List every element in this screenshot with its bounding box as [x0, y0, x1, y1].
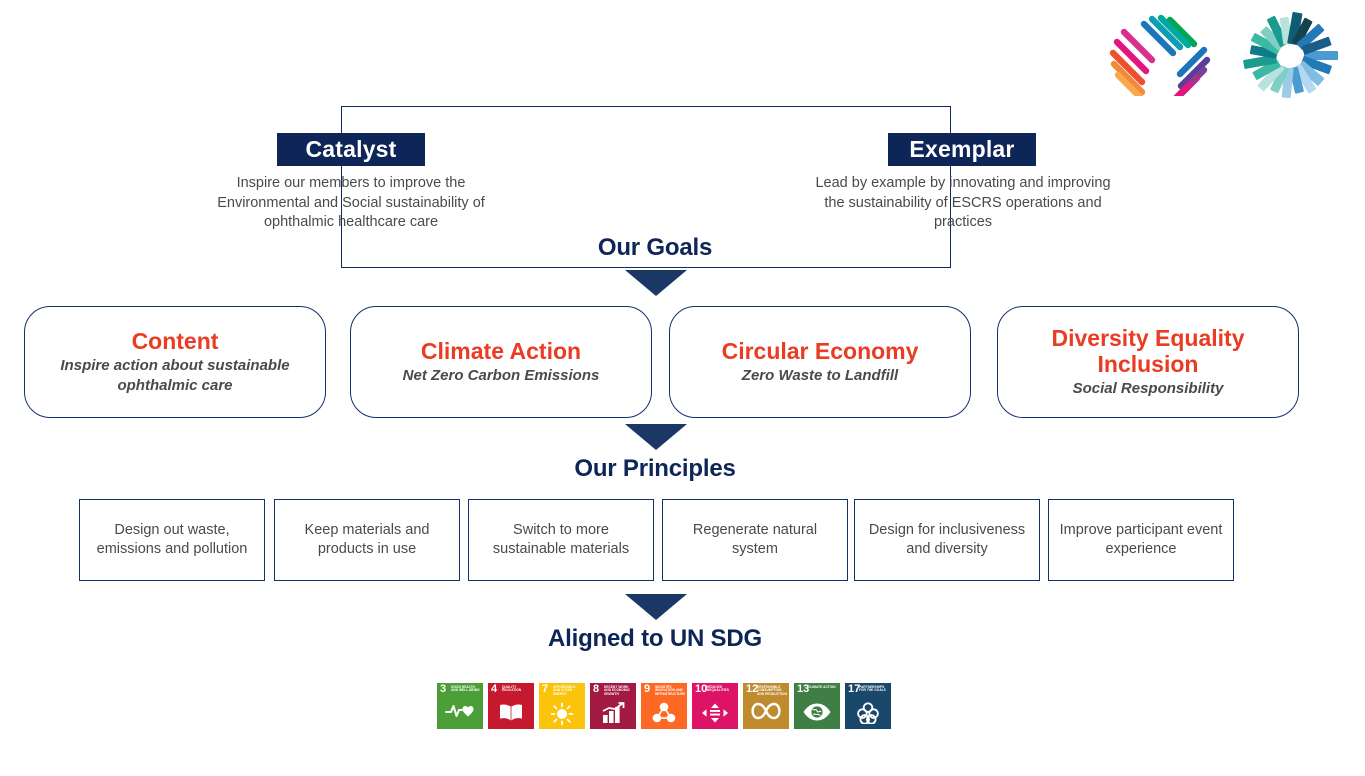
- growth-chart-icon: [590, 702, 636, 726]
- sdg-number: 3: [440, 684, 446, 695]
- goal-subtitle: Inspire action about sustainable ophthal…: [35, 356, 315, 396]
- escrs-circular-logo: [1108, 12, 1220, 96]
- heartbeat-icon: [437, 702, 483, 726]
- principle-box[interactable]: Design out waste, emissions and pollutio…: [79, 499, 265, 581]
- sdg-number: 4: [491, 684, 497, 695]
- principle-box[interactable]: Keep materials and products in use: [274, 499, 460, 581]
- goals-row: Content Inspire action about sustainable…: [0, 306, 1310, 424]
- equals-arrows-icon: [692, 702, 738, 726]
- sdg-tile-13[interactable]: 13CLIMATE ACTION: [794, 683, 840, 729]
- sdg-tile-7[interactable]: 7AFFORDABLE AND CLEAN ENERGY: [539, 683, 585, 729]
- sdg-label: CLIMATE ACTION: [808, 686, 838, 690]
- sun-icon: [539, 702, 585, 726]
- sdg-label: RESPONSIBLE CONSUMPTION AND PRODUCTION: [757, 686, 787, 697]
- sdg-tile-3[interactable]: 3GOOD HEALTH AND WELL-BEING: [437, 683, 483, 729]
- goal-title: Diversity Equality Inclusion: [1008, 325, 1288, 377]
- principle-box[interactable]: Switch to more sustainable materials: [468, 499, 654, 581]
- sdg-label: REDUCED INEQUALITIES: [706, 686, 736, 693]
- goal-subtitle: Zero Waste to Landfill: [742, 366, 898, 386]
- principles-row: Design out waste, emissions and pollutio…: [0, 499, 1310, 583]
- principle-box[interactable]: Regenerate natural system: [662, 499, 848, 581]
- section-title-our-goals: Our Goals: [0, 234, 1310, 262]
- principle-box[interactable]: Design for inclusiveness and diversity: [854, 499, 1040, 581]
- sdg-tile-9[interactable]: 9INDUSTRY, INNOVATION AND INFRASTRUCTURE: [641, 683, 687, 729]
- infinity-icon: [743, 702, 789, 726]
- sdg-label: AFFORDABLE AND CLEAN ENERGY: [553, 686, 583, 697]
- goal-title: Climate Action: [421, 338, 581, 364]
- sdg-number: 9: [644, 684, 650, 695]
- sdg-label: QUALITY EDUCATION: [502, 686, 532, 693]
- partnership-circles-icon: [845, 702, 891, 726]
- sdg-tile-8[interactable]: 8DECENT WORK AND ECONOMIC GROWTH: [590, 683, 636, 729]
- cubes-icon: [641, 702, 687, 726]
- goal-card-diversity-equality-inclusion[interactable]: Diversity Equality Inclusion Social Resp…: [997, 306, 1299, 418]
- sustainability-burst-logo: [1234, 10, 1346, 98]
- goal-card-circular-economy[interactable]: Circular Economy Zero Waste to Landfill: [669, 306, 971, 418]
- principle-box[interactable]: Improve participant event experience: [1048, 499, 1234, 581]
- pillar-label-exemplar: Exemplar: [888, 133, 1036, 166]
- sdg-number: 7: [542, 684, 548, 695]
- section-title-our-principles: Our Principles: [0, 455, 1310, 483]
- sdg-label: DECENT WORK AND ECONOMIC GROWTH: [604, 686, 634, 697]
- un-sdg-icon-row: 3GOOD HEALTH AND WELL-BEING4QUALITY EDUC…: [437, 683, 891, 729]
- sdg-tile-12[interactable]: 12RESPONSIBLE CONSUMPTION AND PRODUCTION: [743, 683, 789, 729]
- goal-title: Circular Economy: [722, 338, 919, 364]
- pillar-label-catalyst: Catalyst: [277, 133, 425, 166]
- pillar-description-catalyst: Inspire our members to improve the Envir…: [200, 174, 502, 233]
- goal-subtitle: Social Responsibility: [1073, 379, 1224, 399]
- goal-card-climate-action[interactable]: Climate Action Net Zero Carbon Emissions: [350, 306, 652, 418]
- sdg-tile-4[interactable]: 4QUALITY EDUCATION: [488, 683, 534, 729]
- goal-subtitle: Net Zero Carbon Emissions: [403, 366, 600, 386]
- goal-card-content[interactable]: Content Inspire action about sustainable…: [24, 306, 326, 418]
- pillar-description-exemplar: Lead by example by innovating and improv…: [812, 174, 1114, 233]
- eye-globe-icon: [794, 702, 840, 726]
- section-title-aligned-to-un-sdg: Aligned to UN SDG: [0, 625, 1310, 653]
- sdg-number: 8: [593, 684, 599, 695]
- sdg-tile-10[interactable]: 10REDUCED INEQUALITIES: [692, 683, 738, 729]
- down-arrow-icon-sdg: [625, 594, 687, 620]
- sdg-label: PARTNERSHIPS FOR THE GOALS: [859, 686, 889, 693]
- sdg-label: GOOD HEALTH AND WELL-BEING: [451, 686, 481, 693]
- goal-title: Content: [132, 328, 219, 354]
- sdg-label: INDUSTRY, INNOVATION AND INFRASTRUCTURE: [655, 686, 685, 697]
- down-arrow-icon-principles: [625, 424, 687, 450]
- down-arrow-icon-goals: [625, 270, 687, 296]
- logo-row: [1108, 8, 1358, 100]
- sdg-tile-17[interactable]: 17PARTNERSHIPS FOR THE GOALS: [845, 683, 891, 729]
- open-book-icon: [488, 702, 534, 726]
